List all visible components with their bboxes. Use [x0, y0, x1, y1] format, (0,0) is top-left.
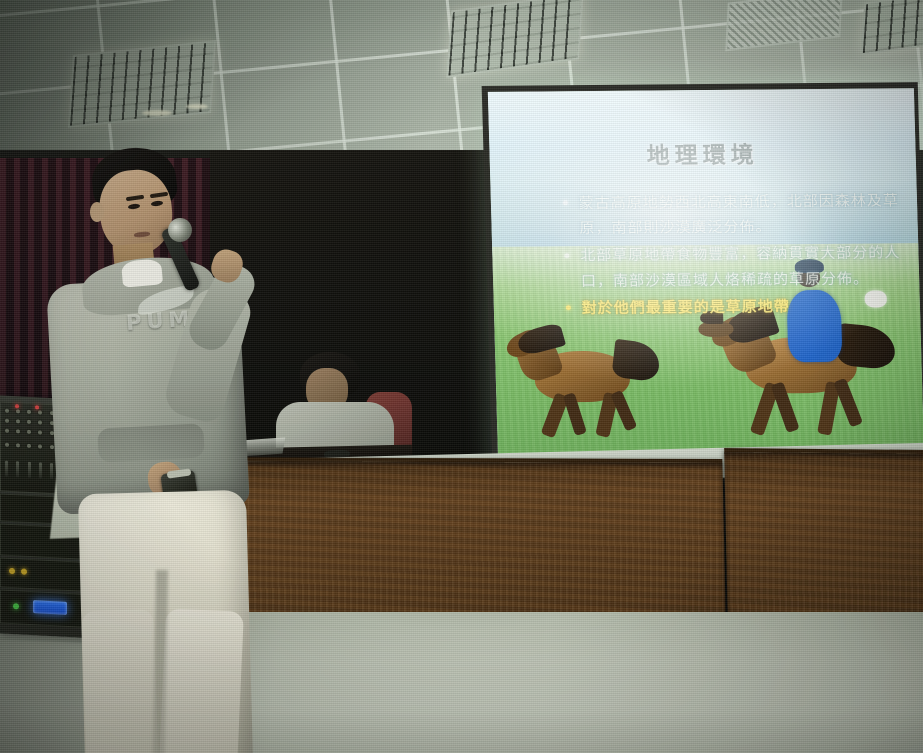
mixer-fader[interactable] — [16, 461, 19, 477]
presenter-right-leg — [154, 608, 244, 753]
horse-mane — [515, 322, 566, 357]
ceiling-light-fixture — [861, 0, 923, 55]
presenter-left-leg — [81, 609, 162, 753]
presenter-ear — [90, 202, 104, 222]
slide-bullet-2: 北部草原地帶食物豐富，容納貫實大部分的人口，南部沙漠區域人烙稀疏的草原分佈。 — [562, 241, 903, 296]
projection-screen-frame: 地理環境 蒙古高原地勢西北高東南低，北部因森林及草原，南部則沙漠廣泛分佈。 北部… — [482, 82, 923, 468]
lamp-glow — [186, 104, 208, 109]
slide-bullet-list: 蒙古高原地勢西北高東南低，北部因森林及草原，南部則沙漠廣泛分佈。 北部草原地帶食… — [520, 188, 903, 323]
mixer-fader[interactable] — [5, 461, 8, 477]
hoodie-pocket — [97, 423, 205, 463]
slide-bullet-1: 蒙古高原地勢西北高東南低，北部因森林及草原，南部則沙漠廣泛分佈。 — [560, 188, 901, 243]
slide-title: 地理環境 — [489, 134, 916, 172]
projection-screen: 地理環境 蒙古高原地勢西北高東南低，北部因森林及草原，南部則沙漠廣泛分佈。 北部… — [488, 88, 923, 460]
horse-tail — [612, 339, 662, 382]
amplifier-led — [21, 569, 27, 575]
ceiling-light-fixture — [68, 40, 216, 128]
horse-leg — [833, 378, 862, 427]
slide-bullet-3: 對於他們最重要的是草原地帶 — [563, 293, 903, 322]
power-led — [13, 603, 19, 609]
photo-scene: 地理環境 蒙古高原地勢西北高東南低，北部因森林及草原，南部則沙漠廣泛分佈。 北部… — [0, 0, 923, 753]
amplifier-led — [9, 568, 15, 574]
horse-tail — [837, 323, 897, 370]
presenter: PUMA — [30, 140, 260, 753]
presenter-undershirt — [121, 258, 163, 287]
slide-horse-left — [511, 326, 667, 438]
ceiling-air-vent — [725, 0, 843, 51]
mixer-indicator-led — [15, 404, 19, 408]
ceiling-light-fixture — [446, 0, 583, 78]
lamp-glow — [142, 110, 172, 116]
